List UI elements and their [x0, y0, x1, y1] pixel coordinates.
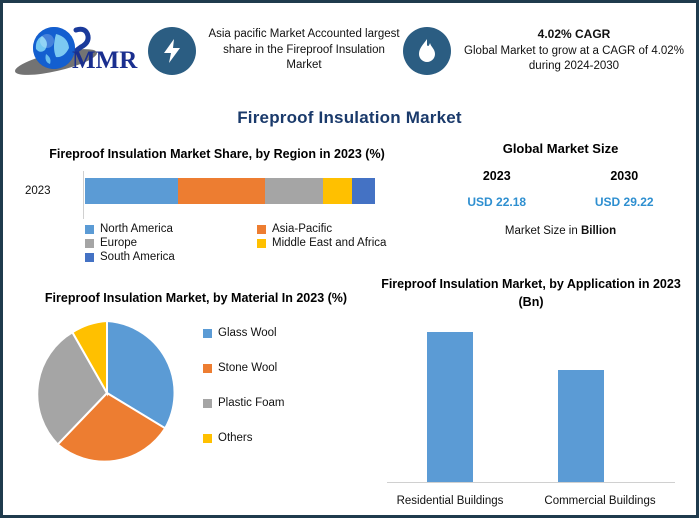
market-size-year-2030: 2030: [610, 169, 638, 183]
pie-chart-plot: Glass Wool Stone Wool Plastic Foam Other…: [21, 313, 371, 478]
page-title: Fireproof Insulation Market: [3, 108, 696, 128]
legend-item-glass-wool: Glass Wool: [203, 327, 284, 339]
legend-item-others: Others: [203, 432, 284, 444]
region-axis-line: [83, 171, 84, 219]
header-item-two-text: 4.02% CAGR Global Market to grow at a CA…: [460, 26, 688, 74]
global-market-size-title: Global Market Size: [433, 141, 688, 156]
global-market-size-values: USD 22.18 USD 29.22: [433, 195, 688, 209]
header-item-one-body: Asia pacific Market Accounted largest sh…: [208, 28, 399, 71]
header-item-cagr: 4.02% CAGR Global Market to grow at a CA…: [403, 26, 688, 74]
globe-logo-icon: MMR: [12, 24, 140, 78]
legend-label-europe: Europe: [100, 237, 137, 249]
column-category-residential: Residential Buildings: [375, 495, 525, 507]
legend-label-others: Others: [218, 432, 253, 444]
svg-text:MMR: MMR: [72, 47, 138, 74]
market-size-value-2030: USD 29.22: [595, 195, 654, 209]
column-chart-category-labels: Residential Buildings Commercial Buildin…: [375, 495, 675, 507]
market-size-unit-note: Market Size in Billion: [433, 225, 688, 237]
region-chart-plot: 2023: [17, 171, 417, 219]
legend-swatch-europe: [85, 239, 94, 248]
legend-swatch-asia-pacific: [257, 225, 266, 234]
legend-label-middle-east-africa: Middle East and Africa: [272, 237, 386, 249]
legend-swatch-plastic-foam: [203, 399, 212, 408]
global-market-size-years: 2023 2030: [433, 169, 688, 183]
legend-swatch-glass-wool: [203, 329, 212, 338]
legend-swatch-south-america: [85, 253, 94, 262]
region-segment-middle-east-africa: [323, 178, 352, 204]
pie-legend: Glass Wool Stone Wool Plastic Foam Other…: [203, 327, 284, 444]
column-bar-residential-buildings: [427, 332, 473, 482]
legend-swatch-others: [203, 434, 212, 443]
legend-label-south-america: South America: [100, 251, 175, 263]
legend-swatch-middle-east-africa: [257, 239, 266, 248]
column-category-commercial: Commercial Buildings: [525, 495, 675, 507]
legend-item-middle-east-africa: Middle East and Africa: [257, 237, 437, 249]
market-size-year-2023: 2023: [483, 169, 511, 183]
infographic-canvas: MMR Asia pacific Market Accounted larges…: [0, 0, 699, 518]
pie-chart-title: Fireproof Insulation Market, by Material…: [21, 289, 371, 307]
column-bar-commercial-buildings: [558, 370, 604, 482]
legend-item-asia-pacific: Asia-Pacific: [257, 223, 437, 235]
column-chart-baseline: [387, 482, 675, 483]
region-segment-north-america: [85, 178, 178, 204]
legend-swatch-north-america: [85, 225, 94, 234]
mmr-logo: MMR: [3, 16, 148, 86]
legend-swatch-stone-wool: [203, 364, 212, 373]
lightning-bolt-icon: [148, 27, 196, 75]
legend-item-stone-wool: Stone Wool: [203, 362, 284, 374]
cagr-description: Global Market to grow at a CAGR of 4.02%…: [464, 45, 684, 73]
legend-label-plastic-foam: Plastic Foam: [218, 397, 284, 409]
legend-item-europe: Europe: [85, 237, 257, 249]
region-chart-title: Fireproof Insulation Market Share, by Re…: [17, 145, 417, 163]
legend-label-north-america: North America: [100, 223, 173, 235]
region-segment-asia-pacific: [178, 178, 265, 204]
market-size-unit-strong: Billion: [581, 225, 616, 237]
region-stacked-bar: [85, 178, 375, 204]
legend-label-glass-wool: Glass Wool: [218, 327, 277, 339]
flame-icon: [403, 27, 451, 75]
legend-item-north-america: North America: [85, 223, 257, 235]
region-axis-category-label: 2023: [25, 185, 51, 197]
region-legend: North America Asia-Pacific Europe Middle…: [85, 223, 417, 263]
cagr-value: 4.02% CAGR: [460, 26, 688, 42]
column-chart-plot: Residential Buildings Commercial Buildin…: [375, 319, 687, 509]
region-segment-south-america: [352, 178, 375, 204]
column-chart-title: Fireproof Insulation Market, by Applicat…: [375, 275, 687, 311]
legend-item-plastic-foam: Plastic Foam: [203, 397, 284, 409]
legend-label-asia-pacific: Asia-Pacific: [272, 223, 332, 235]
header-item-one-text: Asia pacific Market Accounted largest sh…: [205, 27, 403, 74]
header-item-asia-pacific: Asia pacific Market Accounted largest sh…: [148, 27, 403, 75]
material-share-chart: Fireproof Insulation Market, by Material…: [21, 289, 371, 478]
pie-chart-svg: [29, 317, 189, 473]
legend-item-south-america: South America: [85, 251, 257, 263]
application-chart: Fireproof Insulation Market, by Applicat…: [375, 275, 687, 509]
region-share-chart: Fireproof Insulation Market Share, by Re…: [17, 145, 417, 263]
market-size-value-2023: USD 22.18: [467, 195, 526, 209]
region-segment-europe: [265, 178, 323, 204]
global-market-size-panel: Global Market Size 2023 2030 USD 22.18 U…: [433, 141, 688, 237]
header-bar: MMR Asia pacific Market Accounted larges…: [3, 3, 696, 98]
market-size-unit-prefix: Market Size in: [505, 225, 581, 237]
legend-label-stone-wool: Stone Wool: [218, 362, 277, 374]
